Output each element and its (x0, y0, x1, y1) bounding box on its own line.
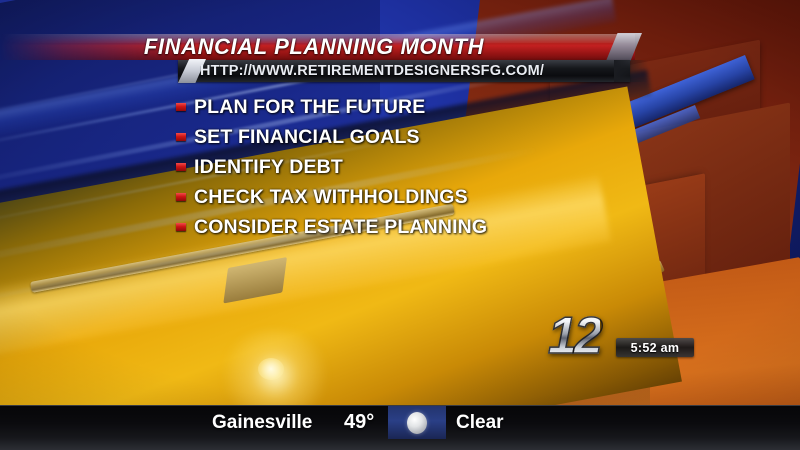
clock-text: 5:52 am (631, 341, 680, 355)
clock-bar: 5:52 am (616, 338, 694, 357)
url-text: HTTP://WWW.RETIREMENTDESIGNERSFG.COM/ (200, 60, 630, 82)
list-item: CHECK TAX WITHHOLDINGS (176, 182, 596, 212)
list-item-label: CONSIDER ESTATE PLANNING (194, 216, 487, 239)
weather-ticker: Gainesville 49° Clear (0, 405, 800, 450)
weather-city: Gainesville (212, 406, 312, 439)
list-item-label: PLAN FOR THE FUTURE (194, 96, 425, 119)
weather-temperature: 49° (344, 406, 374, 439)
weather-ticker-content: Gainesville 49° Clear (0, 406, 800, 439)
list-item: IDENTIFY DEBT (176, 152, 596, 182)
bullet-list: PLAN FOR THE FUTURE SET FINANCIAL GOALS … (176, 92, 596, 242)
station-logo: 12 (548, 310, 600, 362)
list-item: CONSIDER ESTATE PLANNING (176, 212, 596, 242)
list-item-label: IDENTIFY DEBT (194, 156, 343, 179)
bullet-square-icon (176, 163, 186, 171)
list-item: SET FINANCIAL GOALS (176, 122, 596, 152)
full-moon-icon (407, 412, 427, 434)
bullet-square-icon (176, 103, 186, 111)
station-identity: 12 5:52 am (548, 310, 698, 372)
weather-condition: Clear (456, 406, 504, 439)
list-item-label: SET FINANCIAL GOALS (194, 126, 420, 149)
weather-icon-panel (388, 406, 446, 439)
headline-text: FINANCIAL PLANNING MONTH (0, 34, 800, 60)
bullet-square-icon (176, 193, 186, 201)
broadcast-screen: FINANCIAL PLANNING MONTH HTTP://WWW.RETI… (0, 0, 800, 450)
bullet-square-icon (176, 133, 186, 141)
list-item-label: CHECK TAX WITHHOLDINGS (194, 186, 468, 209)
bullet-square-icon (176, 223, 186, 231)
list-item: PLAN FOR THE FUTURE (176, 92, 596, 122)
